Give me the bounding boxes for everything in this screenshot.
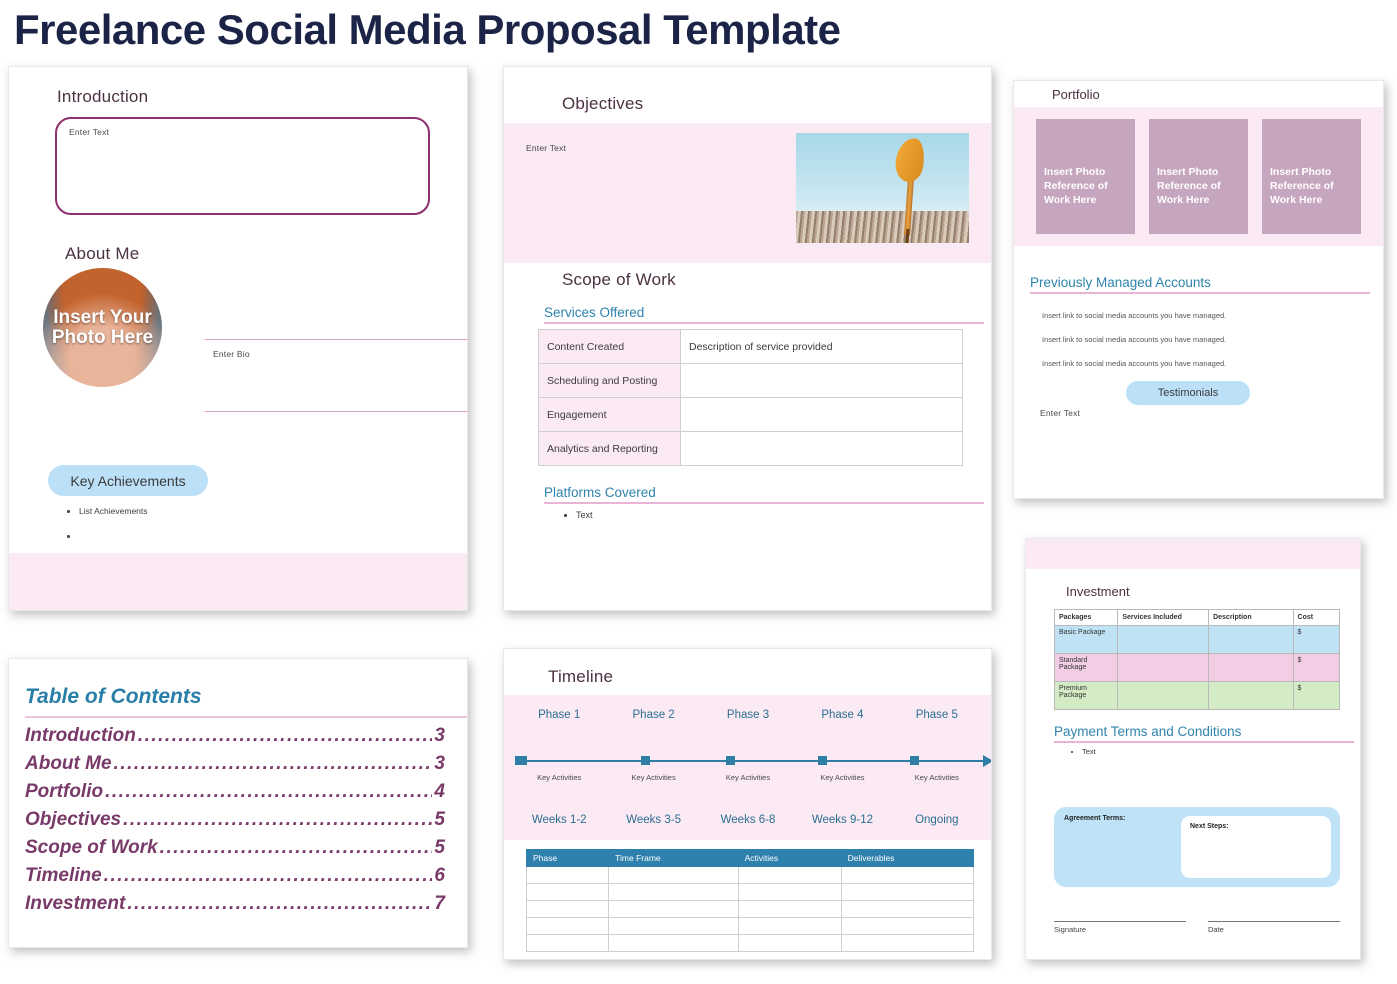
cell[interactable] <box>738 867 841 884</box>
portfolio-thumbnails: Insert Photo Reference of Work Here Inse… <box>1036 119 1366 234</box>
service-name-cell: Content Created <box>539 330 681 364</box>
list-item[interactable]: Text <box>576 510 593 520</box>
next-steps-box[interactable]: Next Steps: <box>1181 816 1331 878</box>
timeline-key-activities: Key Activities <box>701 773 795 782</box>
investment-card: Investment Packages Services Included De… <box>1025 538 1361 960</box>
timeline-phase-label: Phase 3 <box>701 709 795 721</box>
column-header-activities: Activities <box>738 850 841 867</box>
list-item[interactable]: Text <box>1082 747 1096 756</box>
service-description-cell[interactable] <box>681 398 963 432</box>
toc-entry-label: Scope of Work <box>25 837 158 859</box>
introduction-heading: Introduction <box>57 87 148 107</box>
cell[interactable] <box>841 918 973 935</box>
timeline-node-4 <box>818 756 827 765</box>
toc-entry-label: Objectives <box>25 809 121 831</box>
key-achievements-pill: Key Achievements <box>48 465 208 496</box>
toc-entry-investment[interactable]: Investment .............................… <box>25 893 445 915</box>
timeline-key-activities: Key Activities <box>606 773 700 782</box>
payment-terms-heading: Payment Terms and Conditions <box>1054 724 1354 741</box>
objectives-scope-card: Objectives Enter Text Scope of Work Serv… <box>503 66 992 611</box>
signature-label: Signature <box>1054 925 1086 934</box>
services-offered-divider <box>544 322 984 324</box>
toc-entry-introduction[interactable]: Introduction ...........................… <box>25 725 445 747</box>
cell[interactable] <box>841 935 973 952</box>
payment-terms-list: Text <box>1082 747 1096 756</box>
column-header-time-frame: Time Frame <box>609 850 738 867</box>
proposal-template-page: Freelance Social Media Proposal Template… <box>0 0 1397 984</box>
cell[interactable] <box>527 901 609 918</box>
table-row[interactable] <box>527 901 974 918</box>
cell[interactable] <box>738 901 841 918</box>
table-row[interactable]: Scheduling and Posting <box>539 364 963 398</box>
description-cell[interactable] <box>1209 682 1293 710</box>
toc-entry-label: Investment <box>25 893 125 915</box>
column-header-services-included: Services Included <box>1118 610 1209 626</box>
timeline-phase-label: Phase 2 <box>606 709 700 721</box>
payment-terms-block: Payment Terms and Conditions <box>1054 724 1354 743</box>
services-cell[interactable] <box>1118 682 1209 710</box>
timeline-node-5 <box>910 756 919 765</box>
toc-entry-objectives[interactable]: Objectives .............................… <box>25 809 445 831</box>
timeline-heading: Timeline <box>548 667 613 687</box>
toc-entry-label: About Me <box>25 753 112 775</box>
toc-entry-label: Introduction <box>25 725 136 747</box>
service-name-cell: Scheduling and Posting <box>539 364 681 398</box>
toc-leader-dots: ........................................… <box>160 837 433 859</box>
timeline-phase-label: Phase 4 <box>795 709 889 721</box>
table-row[interactable]: Analytics and Reporting <box>539 432 963 466</box>
cell[interactable] <box>841 901 973 918</box>
objectives-heading: Objectives <box>562 94 643 114</box>
toc-leader-dots: ........................................… <box>138 725 433 747</box>
timeline-week-labels: Weeks 1-2 Weeks 3-5 Weeks 6-8 Weeks 9-12… <box>512 814 984 826</box>
toc-entry-label: Timeline <box>25 865 102 887</box>
toc-heading: Table of Contents <box>25 685 202 709</box>
cell[interactable] <box>527 918 609 935</box>
services-cell[interactable] <box>1118 654 1209 682</box>
timeline-key-activities: Key Activities <box>890 773 984 782</box>
platforms-covered-heading: Platforms Covered <box>544 485 984 502</box>
service-name-cell: Analytics and Reporting <box>539 432 681 466</box>
table-row[interactable] <box>527 867 974 884</box>
platforms-covered-block: Platforms Covered <box>544 485 984 504</box>
toc-leader-dots: ........................................… <box>127 893 432 915</box>
cell[interactable] <box>609 867 738 884</box>
bio-placeholder[interactable]: Enter Bio <box>213 349 468 359</box>
services-offered-heading: Services Offered <box>544 305 984 322</box>
investment-table: Packages Services Included Description C… <box>1054 609 1340 710</box>
cell[interactable] <box>609 901 738 918</box>
services-cell[interactable] <box>1118 626 1209 654</box>
dartboard-surface <box>796 211 969 243</box>
cost-cell[interactable]: $ <box>1293 626 1339 654</box>
investment-top-band <box>1026 539 1360 569</box>
bio-divider-top <box>205 339 468 340</box>
previously-managed-block: Previously Managed Accounts <box>1030 275 1370 294</box>
toc-entry-page: 7 <box>434 893 445 915</box>
service-name-cell: Engagement <box>539 398 681 432</box>
cell[interactable] <box>609 884 738 901</box>
toc-entry-page: 3 <box>434 753 445 775</box>
cell[interactable] <box>738 884 841 901</box>
table-row[interactable]: Basic Package $ <box>1055 626 1340 654</box>
timeline-week-label: Weeks 6-8 <box>701 814 795 826</box>
previously-managed-divider <box>1030 292 1370 294</box>
previously-managed-heading: Previously Managed Accounts <box>1030 275 1370 292</box>
cell[interactable] <box>527 884 609 901</box>
column-header-deliverables: Deliverables <box>841 850 973 867</box>
list-item[interactable] <box>79 532 305 541</box>
package-name-cell: Standard Package <box>1055 654 1118 682</box>
timeline-week-label: Weeks 3-5 <box>606 814 700 826</box>
toc-entry-page: 4 <box>434 781 445 803</box>
table-of-contents-card: Table of Contents Introduction .........… <box>8 658 468 948</box>
managed-account-link-2[interactable]: Insert link to social media accounts you… <box>1042 335 1226 344</box>
service-description-cell[interactable] <box>681 432 963 466</box>
profile-photo-placeholder[interactable]: Insert Your Photo Here <box>43 268 162 387</box>
portfolio-thumb-2[interactable]: Insert Photo Reference of Work Here <box>1149 119 1248 234</box>
services-offered-table: Content Created Description of service p… <box>538 329 963 466</box>
timeline-key-activities-labels: Key Activities Key Activities Key Activi… <box>512 773 984 782</box>
portfolio-heading: Portfolio <box>1052 87 1100 102</box>
timeline-key-activities: Key Activities <box>795 773 889 782</box>
cell[interactable] <box>738 935 841 952</box>
page-title: Freelance Social Media Proposal Template <box>14 6 841 54</box>
toc-leader-dots: ........................................… <box>114 753 433 775</box>
objectives-text-placeholder[interactable]: Enter Text <box>526 143 566 153</box>
package-name-cell: Premium Package <box>1055 682 1118 710</box>
table-row[interactable]: Premium Package $ <box>1055 682 1340 710</box>
date-line <box>1208 921 1340 922</box>
timeline-card: Timeline Phase 1 Phase 2 Phase 3 Phase 4… <box>503 648 992 960</box>
payment-terms-divider <box>1054 741 1354 743</box>
package-name-cell: Basic Package <box>1055 626 1118 654</box>
timeline-key-activities: Key Activities <box>512 773 606 782</box>
timeline-phase-label: Phase 1 <box>512 709 606 721</box>
introduction-slide-card: Introduction Enter Text About Me Insert … <box>8 66 468 611</box>
timeline-axis <box>518 760 984 762</box>
toc-leader-dots: ........................................… <box>123 809 432 831</box>
toc-entry-about-me[interactable]: About Me ...............................… <box>25 753 445 775</box>
introduction-text-placeholder: Enter Text <box>69 127 109 137</box>
service-description-cell[interactable]: Description of service provided <box>681 330 963 364</box>
table-row[interactable]: Standard Package $ <box>1055 654 1340 682</box>
timeline-arrow-icon <box>983 755 992 767</box>
dart-on-target-photo <box>796 133 969 243</box>
about-me-heading: About Me <box>65 244 139 264</box>
timeline-phase-labels: Phase 1 Phase 2 Phase 3 Phase 4 Phase 5 <box>512 709 984 721</box>
table-row[interactable] <box>527 918 974 935</box>
date-label: Date <box>1208 925 1224 934</box>
timeline-node-2 <box>641 756 650 765</box>
dart-flight <box>893 136 927 183</box>
bio-divider-bottom <box>205 411 468 412</box>
platforms-list: Text <box>576 510 593 520</box>
insert-photo-label: Insert Your Photo Here <box>43 308 162 348</box>
cell[interactable] <box>609 918 738 935</box>
description-cell[interactable] <box>1209 654 1293 682</box>
toc-list: Introduction ...........................… <box>25 719 445 915</box>
introduction-footer-band <box>9 553 467 610</box>
table-header-row: Phase Time Frame Activities Deliverables <box>527 850 974 867</box>
table-header-row: Packages Services Included Description C… <box>1055 610 1340 626</box>
agreement-terms-box[interactable]: Agreement Terms: Next Steps: <box>1054 807 1340 887</box>
agreement-terms-label: Agreement Terms: <box>1064 815 1125 822</box>
timeline-phase-label: Phase 5 <box>890 709 984 721</box>
cell[interactable] <box>841 884 973 901</box>
investment-heading: Investment <box>1066 584 1130 599</box>
column-header-phase: Phase <box>527 850 609 867</box>
toc-entry-page: 5 <box>434 809 445 831</box>
timeline-week-label: Weeks 9-12 <box>795 814 889 826</box>
toc-entry-timeline[interactable]: Timeline ...............................… <box>25 865 445 887</box>
cell[interactable] <box>527 867 609 884</box>
timeline-node-3 <box>518 756 527 765</box>
testimonials-text-placeholder[interactable]: Enter Text <box>1040 408 1080 418</box>
column-header-description: Description <box>1209 610 1293 626</box>
cost-cell[interactable]: $ <box>1293 654 1339 682</box>
toc-entry-page: 3 <box>434 725 445 747</box>
list-item[interactable]: List Achievements <box>79 507 305 516</box>
table-row[interactable]: Engagement <box>539 398 963 432</box>
signature-line <box>1054 921 1186 922</box>
testimonials-pill: Testimonials <box>1126 381 1250 405</box>
toc-leader-dots: ........................................… <box>104 865 433 887</box>
cell[interactable] <box>527 935 609 952</box>
portfolio-card: Portfolio Insert Photo Reference of Work… <box>1013 80 1384 499</box>
cell[interactable] <box>609 935 738 952</box>
bio-spacer <box>205 359 468 411</box>
timeline-week-label: Ongoing <box>890 814 984 826</box>
toc-entry-page: 6 <box>434 865 445 887</box>
timeline-table: Phase Time Frame Activities Deliverables <box>526 849 974 952</box>
column-header-packages: Packages <box>1055 610 1118 626</box>
managed-account-link-1[interactable]: Insert link to social media accounts you… <box>1042 311 1226 320</box>
cell[interactable] <box>841 867 973 884</box>
table-row[interactable]: Content Created Description of service p… <box>539 330 963 364</box>
table-row[interactable] <box>527 884 974 901</box>
timeline-week-label: Weeks 1-2 <box>512 814 606 826</box>
objectives-band: Enter Text <box>504 123 991 263</box>
introduction-text-box[interactable]: Enter Text <box>55 117 430 215</box>
bio-block: Enter Bio <box>205 339 468 412</box>
toc-entry-page: 5 <box>434 837 445 859</box>
services-offered-block: Services Offered <box>544 305 984 324</box>
service-description-cell[interactable] <box>681 364 963 398</box>
column-header-cost: Cost <box>1293 610 1339 626</box>
toc-entry-scope-of-work[interactable]: Scope of Work ..........................… <box>25 837 445 859</box>
managed-account-link-3[interactable]: Insert link to social media accounts you… <box>1042 359 1226 368</box>
scope-of-work-heading: Scope of Work <box>562 270 676 290</box>
platforms-covered-divider <box>544 502 984 504</box>
toc-leader-dots: ........................................… <box>105 781 432 803</box>
portfolio-thumb-1[interactable]: Insert Photo Reference of Work Here <box>1036 119 1135 234</box>
next-steps-label: Next Steps: <box>1190 823 1229 830</box>
description-cell[interactable] <box>1209 626 1293 654</box>
toc-entry-label: Portfolio <box>25 781 103 803</box>
portfolio-thumb-3[interactable]: Insert Photo Reference of Work Here <box>1262 119 1361 234</box>
table-row[interactable] <box>527 935 974 952</box>
toc-entry-portfolio[interactable]: Portfolio ..............................… <box>25 781 445 803</box>
timeline-node-3b <box>726 756 735 765</box>
cost-cell[interactable]: $ <box>1293 682 1339 710</box>
toc-divider <box>25 716 468 718</box>
cell[interactable] <box>738 918 841 935</box>
